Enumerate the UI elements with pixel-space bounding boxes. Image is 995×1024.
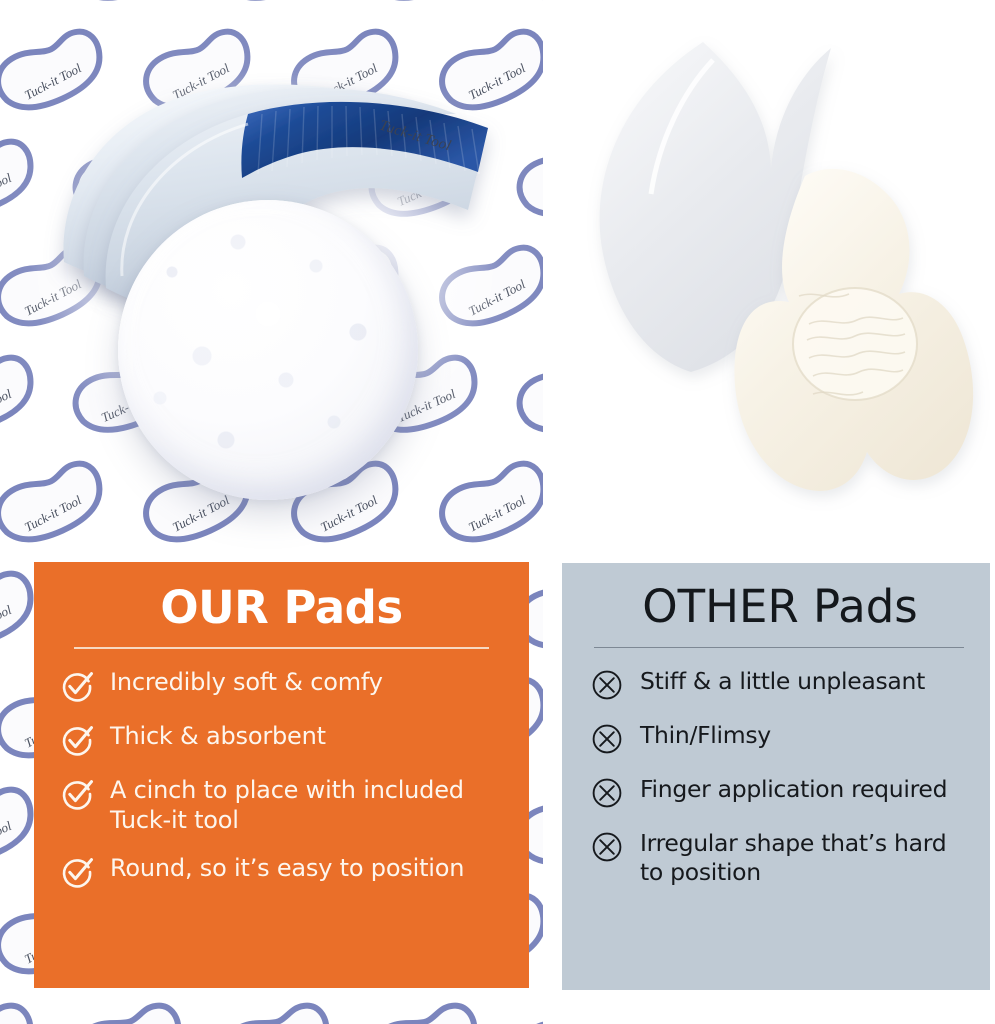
our-pads-title: OUR Pads bbox=[60, 584, 503, 631]
list-item: Stiff & a little unpleasant bbox=[590, 666, 970, 702]
list-item: Finger application required bbox=[590, 774, 970, 810]
list-item: Round, so it’s easy to position bbox=[60, 853, 503, 889]
brand-watermark: Tuck-it Tool bbox=[504, 345, 543, 449]
brand-watermark: Tuck-it Tool bbox=[208, 993, 346, 1024]
brand-watermark: Tuck-it Tool bbox=[0, 0, 50, 17]
brand-watermark: Tuck-it Tool bbox=[504, 0, 543, 17]
brand-watermark: Tuck-it Tool bbox=[60, 0, 198, 17]
competitor-product-photo bbox=[543, 0, 995, 560]
brand-watermark: Tuck-it Tool bbox=[504, 993, 543, 1024]
our-pads-divider bbox=[74, 647, 489, 649]
our-pads-benefit-list: Incredibly soft & comfyThick & absorbent… bbox=[60, 667, 503, 889]
x-circle-icon bbox=[590, 776, 624, 810]
x-circle-icon bbox=[590, 668, 624, 702]
x-circle-icon bbox=[590, 722, 624, 756]
list-item-label: Incredibly soft & comfy bbox=[110, 667, 383, 697]
list-item-label: A cinch to place with included Tuck-it t… bbox=[110, 775, 503, 835]
check-circle-icon bbox=[60, 723, 94, 757]
comparison-infographic: Tuck-it ToolTuck-it ToolTuck-it ToolTuck… bbox=[0, 0, 995, 1024]
round-cotton-pad bbox=[118, 200, 418, 500]
competitor-pad-group bbox=[563, 28, 983, 518]
other-pads-divider bbox=[594, 647, 964, 648]
list-item: Irregular shape that’s hard to position bbox=[590, 828, 970, 886]
list-item-label: Thin/Flimsy bbox=[640, 720, 771, 750]
x-circle-icon bbox=[590, 668, 624, 702]
brand-watermark: Tuck-it Tool bbox=[0, 129, 50, 233]
x-circle-icon bbox=[590, 830, 624, 864]
x-circle-icon bbox=[590, 722, 624, 756]
check-circle-icon bbox=[60, 855, 94, 889]
brand-watermark: Tuck-it Tool bbox=[60, 993, 198, 1024]
x-circle-icon bbox=[590, 776, 624, 810]
check-circle-icon bbox=[60, 855, 94, 889]
list-item-label: Round, so it’s easy to position bbox=[110, 853, 464, 883]
other-pads-title: OTHER Pads bbox=[590, 583, 970, 630]
list-item-label: Finger application required bbox=[640, 774, 947, 804]
list-item: Thick & absorbent bbox=[60, 721, 503, 757]
list-item-label: Thick & absorbent bbox=[110, 721, 326, 751]
other-pads-drawback-list: Stiff & a little unpleasantThin/FlimsyFi… bbox=[590, 666, 970, 886]
brand-watermark: Tuck-it Tool bbox=[0, 450, 121, 561]
other-pads-panel: OTHER Pads Stiff & a little unpleasantTh… bbox=[562, 563, 990, 990]
brand-watermark: Tuck-it Tool bbox=[0, 993, 50, 1024]
list-item: Incredibly soft & comfy bbox=[60, 667, 503, 703]
brand-watermark: Tuck-it Tool bbox=[356, 993, 494, 1024]
brand-watermark: Tuck-it Tool bbox=[504, 129, 543, 233]
check-circle-icon bbox=[60, 777, 94, 811]
check-circle-icon bbox=[60, 669, 94, 703]
check-circle-icon bbox=[60, 777, 94, 811]
brand-watermark: Tuck-it Tool bbox=[356, 0, 494, 17]
brand-watermark: Tuck-it Tool bbox=[425, 450, 543, 561]
check-circle-icon bbox=[60, 723, 94, 757]
list-item-label: Stiff & a little unpleasant bbox=[640, 666, 925, 696]
brand-watermark: Tuck-it Tool bbox=[0, 345, 50, 449]
x-circle-icon bbox=[590, 830, 624, 864]
check-circle-icon bbox=[60, 669, 94, 703]
our-pads-panel: OUR Pads Incredibly soft & comfyThick & … bbox=[34, 562, 529, 988]
list-item: Thin/Flimsy bbox=[590, 720, 970, 756]
brand-watermark: Tuck-it Tool bbox=[208, 0, 346, 17]
list-item-label: Irregular shape that’s hard to position bbox=[640, 828, 970, 886]
list-item: A cinch to place with included Tuck-it t… bbox=[60, 775, 503, 835]
